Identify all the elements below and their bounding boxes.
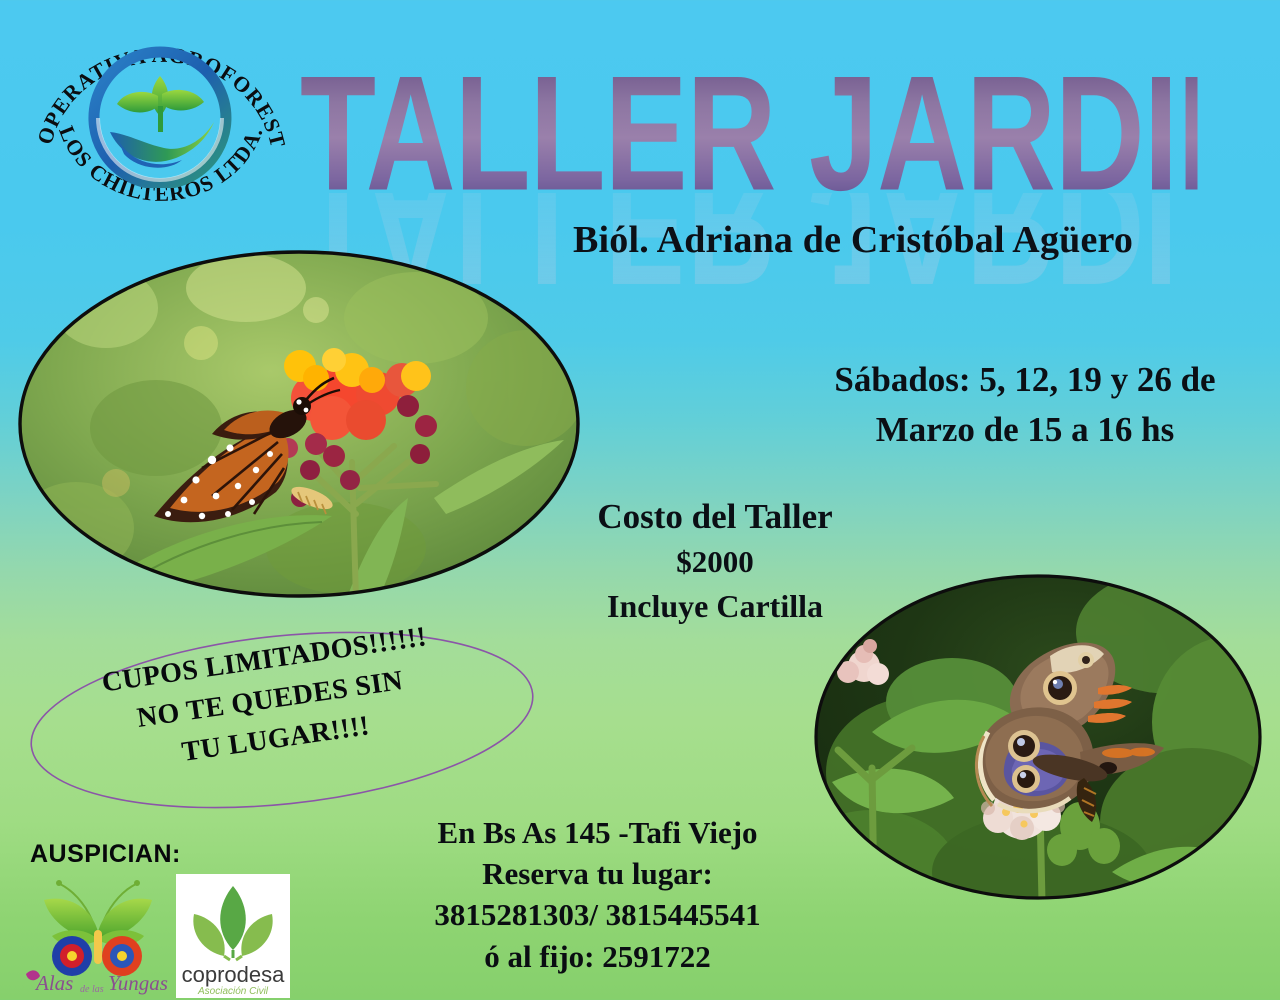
poster-title: TALLER JARDIN PARA MARIPOSAS xyxy=(300,18,1198,248)
cost-label: Costo del Taller xyxy=(545,495,885,539)
contact-address: En Bs As 145 -Tafi Viejo xyxy=(395,812,800,853)
poster-canvas: COOPERATIVA AGROFORESTAL LOS CHILTEROS L… xyxy=(0,0,1280,1000)
sponsor-yungas-name2: de las xyxy=(80,984,104,995)
sponsor-logo-alas-de-las-yungas: Alas de las Yungas xyxy=(22,876,174,996)
butterfly-photo-left: Queen butterfly on red and orange milkwe… xyxy=(16,248,582,600)
poster-title-wrap: TALLER JARDIN PARA MARIPOSAS xyxy=(300,18,1180,198)
sponsor-coprodesa-name: coprodesa xyxy=(182,962,286,987)
contact-mobile-numbers[interactable]: 3815281303/ 3815445541 xyxy=(395,894,800,935)
sponsor-logo-coprodesa: coprodesa Asociación Civil xyxy=(176,874,290,998)
presenter-name: Biól. Adriana de Cristóbal Agüero xyxy=(573,218,1133,262)
cooperative-emblem-icon xyxy=(84,46,236,188)
workshop-dates: Sábados: 5, 12, 19 y 26 de Marzo de 15 a… xyxy=(810,355,1240,456)
sponsor-yungas-name1: Alas xyxy=(34,971,73,995)
cooperative-logo: COOPERATIVA AGROFORESTAL LOS CHILTEROS L… xyxy=(36,14,286,219)
contact-reserve-label: Reserva tu lugar: xyxy=(395,853,800,894)
contact-info: En Bs As 145 -Tafi Viejo Reserva tu luga… xyxy=(395,812,800,977)
sponsor-coprodesa-tagline: Asociación Civil xyxy=(197,986,269,997)
sponsor-yungas-name3: Yungas xyxy=(108,971,168,995)
sponsors-label: AUSPICIAN: xyxy=(30,840,181,869)
workshop-dates-line1: Sábados: 5, 12, 19 y 26 de xyxy=(834,360,1215,399)
workshop-dates-line2: Marzo de 15 a 16 hs xyxy=(810,405,1240,455)
contact-landline-number[interactable]: ó al fijo: 2591722 xyxy=(395,936,800,977)
butterfly-photo-right: Common buckeye butterfly with eyespots o… xyxy=(812,572,1264,902)
butterfly-photo-right-alt: Common buckeye butterfly with eyespots o… xyxy=(812,902,813,903)
butterfly-photo-left-alt: Queen butterfly on red and orange milkwe… xyxy=(16,600,17,601)
